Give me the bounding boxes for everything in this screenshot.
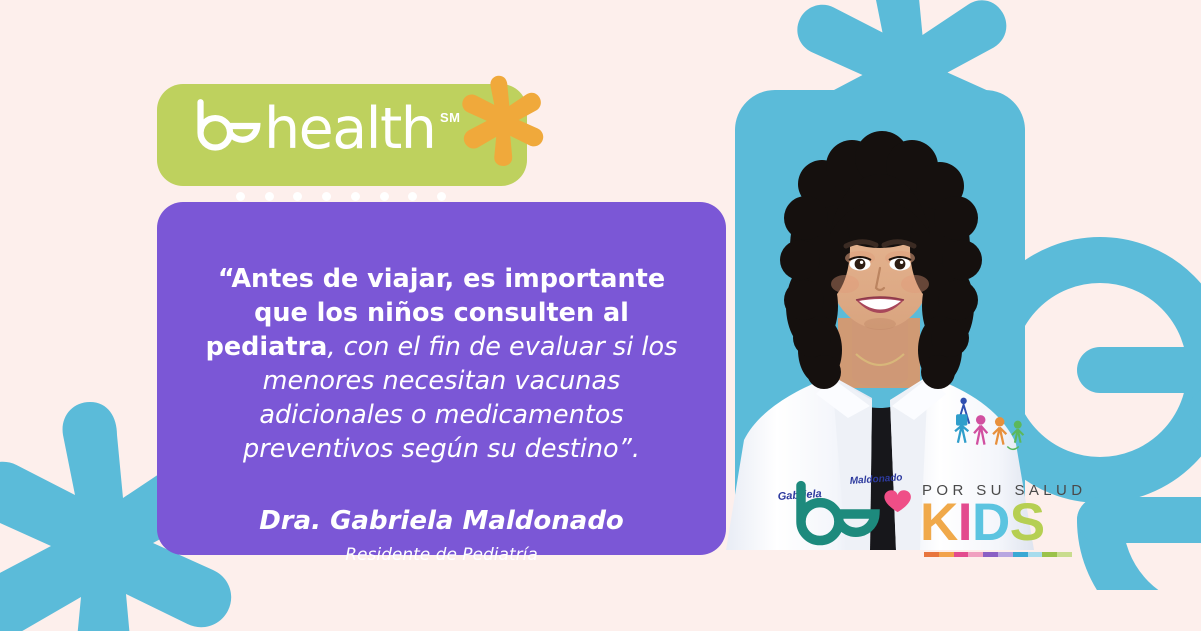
dotted-separator [236, 189, 446, 203]
behealth-wordmark-text: health [264, 96, 435, 162]
dot [408, 192, 417, 201]
author-role: Residente de Pediatría [345, 545, 538, 565]
bekids-kids-word: KIDS [920, 496, 1045, 549]
bekids-logo: POR SU SALUD KIDS [790, 470, 1090, 550]
quote-text: “Antes de viajar, es importante que los … [187, 262, 696, 466]
dot [351, 192, 360, 201]
behealth-wordmark: health [196, 98, 435, 158]
dot [293, 192, 302, 201]
kids-letter-k: K [920, 493, 958, 552]
kids-letter-d: D [972, 493, 1010, 552]
heart-icon [884, 490, 911, 512]
orange-star-icon [452, 72, 546, 166]
dot [380, 192, 389, 201]
dot [236, 192, 245, 201]
dot [265, 192, 274, 201]
bekids-be-icon [790, 478, 920, 550]
quote-card: “Antes de viajar, es importante que los … [157, 202, 726, 555]
author-name: Dra. Gabriela Maldonado [259, 507, 624, 536]
bekids-color-bar [924, 552, 1072, 557]
dot [322, 192, 331, 201]
poster-canvas: health SM “Antes de viajar, es important… [0, 0, 1201, 631]
kids-letter-s: S [1010, 493, 1045, 552]
dot [437, 192, 446, 201]
kids-letter-i: I [958, 493, 972, 552]
be-infinity-icon [196, 98, 264, 154]
service-mark-label: SM [440, 110, 461, 125]
